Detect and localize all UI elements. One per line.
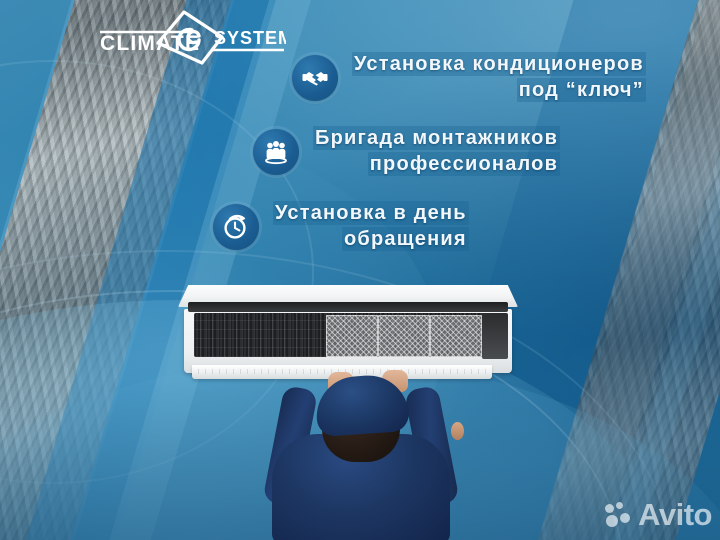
feature-text: Бригада монтажников профессионалов (313, 126, 560, 177)
ac-filter-panel (430, 315, 482, 357)
avito-watermark: Avito (605, 499, 712, 530)
ac-cover-shadow (188, 302, 508, 312)
logo-text-systems: SYSTEMS (214, 28, 286, 48)
ac-filter-panel (326, 315, 378, 357)
clock-arrow-icon (213, 204, 259, 250)
avito-dots-icon (605, 502, 631, 528)
three-people-icon (253, 129, 299, 175)
promo-poster: CLIMATE SYSTEMS Установка кондиционеров … (0, 0, 720, 540)
ac-filter-panel (378, 315, 430, 357)
feature-text: Установка кондиционеров под “ключ” (352, 52, 646, 103)
feature-item-same-day-install: Установка в день обращения (213, 201, 469, 252)
avito-wordmark: Avito (638, 499, 712, 530)
handshake-icon (292, 55, 338, 101)
feature-item-professional-crew: Бригада монтажников профессионалов (253, 126, 560, 177)
ac-side-module (482, 313, 508, 359)
feature-line-2: обращения (342, 227, 469, 251)
feature-text: Установка в день обращения (273, 201, 469, 252)
feature-line-2: профессионалов (368, 152, 560, 176)
feature-line-2: под “ключ” (517, 78, 646, 102)
feature-item-turnkey-installation: Установка кондиционеров под “ключ” (292, 52, 646, 103)
feature-line-1: Установка в день (273, 201, 469, 225)
brand-logo: CLIMATE SYSTEMS (96, 6, 286, 68)
technician-ear (451, 422, 464, 440)
technician-figure (246, 360, 476, 540)
feature-line-1: Бригада монтажников (313, 126, 560, 150)
logo-text-climate: CLIMATE (100, 32, 200, 55)
feature-line-1: Установка кондиционеров (352, 52, 646, 76)
